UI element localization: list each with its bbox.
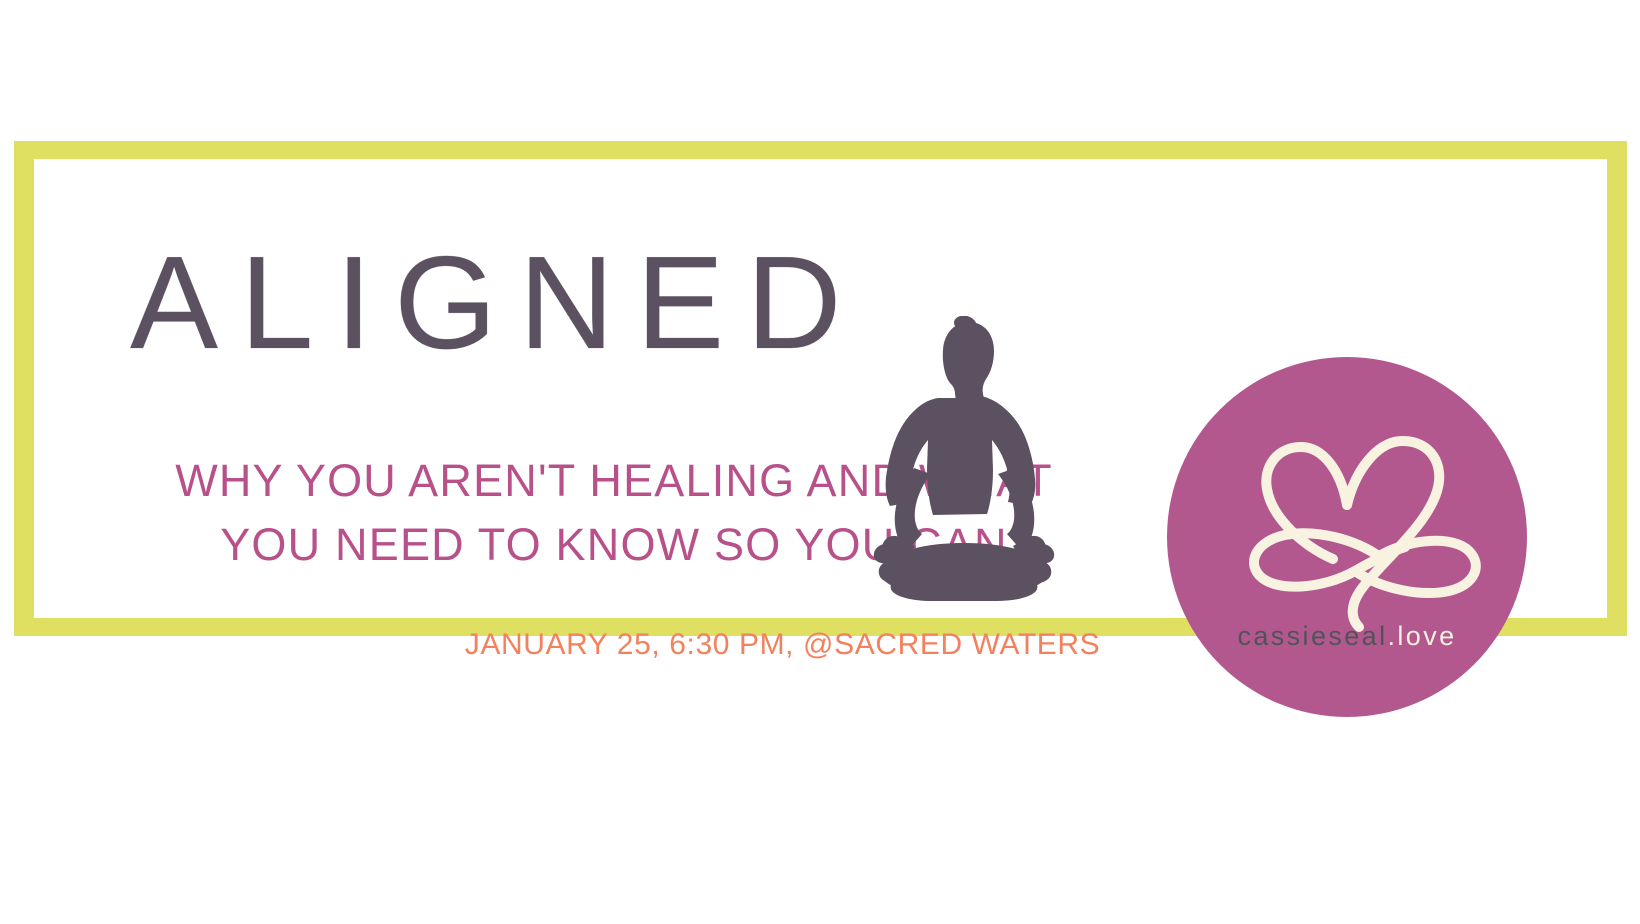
event-banner: ALIGNED WHY YOU AREN'T HEALING AND WHAT … [0,0,1640,924]
event-details: JANUARY 25, 6:30 PM, @SACRED WATERS [0,628,1565,662]
page-title: ALIGNED [130,237,864,369]
heart-infinity-icon [1205,397,1490,647]
lotus-meditation-silhouette-icon [839,316,1089,601]
banner-frame-inner: ALIGNED WHY YOU AREN'T HEALING AND WHAT … [34,159,1607,618]
brand-logo-badge[interactable]: cassieseal.love [1167,357,1527,717]
banner-frame: ALIGNED WHY YOU AREN'T HEALING AND WHAT … [14,141,1627,636]
